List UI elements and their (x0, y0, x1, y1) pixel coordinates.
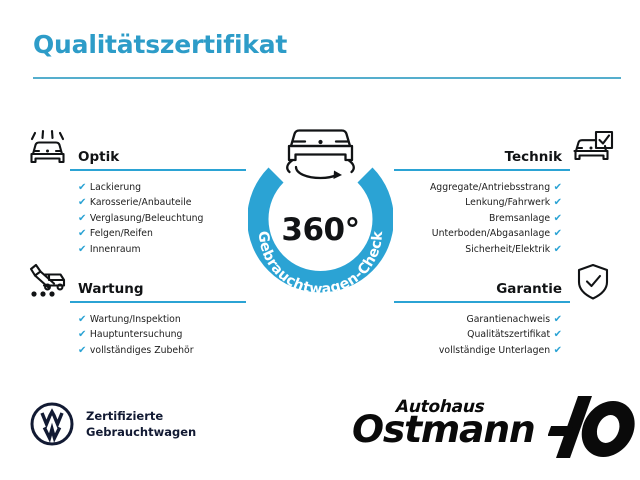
list-item-label: Felgen/Reifen (90, 228, 153, 239)
list-item-label: Sicherheit/Elektrik (465, 244, 550, 255)
list-item: Sicherheit/Elektrik✔ (394, 242, 562, 257)
list-item: ✔vollständiges Zubehör (78, 343, 246, 358)
check-icon: ✔ (554, 312, 562, 327)
list-item-label: Verglasung/Beleuchtung (90, 213, 204, 224)
badge-value: 360° (248, 212, 393, 248)
list-item-label: vollständige Unterlagen (439, 345, 550, 356)
vw-certified-lockup: Zertifizierte Gebrauchtwagen (30, 402, 196, 446)
check-icon: ✔ (554, 195, 562, 210)
list-item: Qualitätszertifikat✔ (394, 327, 562, 342)
list-item: ✔Wartung/Inspektion (78, 312, 246, 327)
car-rotate-icon (287, 131, 354, 180)
list-item-label: Lackierung (90, 182, 141, 193)
list-item-label: Unterboden/Abgasanlage (432, 228, 550, 239)
section-optik-title-wrap: Optik (70, 149, 246, 172)
section-technik: Technik Aggregate/Antriebsstrang✔ Lenkun… (394, 126, 616, 273)
page-title: Qualitätszertifikat (33, 30, 621, 60)
list-item-label: Garantienachweis (467, 314, 551, 325)
list-item-label: Innenraum (90, 244, 141, 255)
shield-check-icon (570, 260, 616, 304)
section-title: Technik (394, 149, 570, 165)
ao-monogram-icon (548, 396, 640, 458)
section-divider (394, 169, 570, 171)
section-title: Optik (70, 149, 246, 165)
section-divider (70, 301, 246, 303)
vw-logo-icon (30, 402, 74, 446)
section-garantie: Garantie Garantienachweis✔ Qualitätszert… (394, 258, 616, 374)
list-item: Garantienachweis✔ (394, 312, 562, 327)
vw-certified-line1: Zertifizierte (86, 408, 196, 424)
section-wartung-title-wrap: Wartung (70, 281, 246, 304)
badge-360-gebrauchtwagen-check: Gebrauchtwagen-Check 360° (248, 112, 393, 312)
check-icon: ✔ (78, 180, 86, 195)
list-item: ✔Innenraum (78, 242, 246, 257)
vw-certified-line2: Gebrauchtwagen (86, 424, 196, 440)
list-item-label: Lenkung/Fahrwerk (465, 197, 550, 208)
check-icon: ✔ (554, 343, 562, 358)
dealer-name: Ostmann (352, 408, 535, 451)
list-item-label: vollständiges Zubehör (90, 345, 194, 356)
check-icon: ✔ (78, 226, 86, 241)
section-title: Wartung (70, 281, 246, 297)
check-icon: ✔ (78, 195, 86, 210)
section-divider (394, 301, 570, 303)
section-optik-header: Optik (24, 126, 246, 172)
car-lift-icon (24, 260, 70, 304)
check-icon: ✔ (78, 211, 86, 226)
list-item-label: Karosserie/Anbauteile (90, 197, 192, 208)
section-technik-title-wrap: Technik (394, 149, 570, 172)
section-title: Garantie (394, 281, 570, 297)
check-icon: ✔ (554, 327, 562, 342)
list-item: ✔Karosserie/Anbauteile (78, 195, 246, 210)
section-garantie-title-wrap: Garantie (394, 281, 570, 304)
certificate-page: Qualitätszertifikat (0, 0, 640, 480)
list-item-label: Aggregate/Antriebsstrang (430, 182, 550, 193)
dealer-logo-lockup: Autohaus Ostmann (352, 392, 640, 464)
section-divider (70, 169, 246, 171)
section-wartung-header: Wartung (24, 258, 246, 304)
check-icon: ✔ (554, 211, 562, 226)
list-item-label: Hauptuntersuchung (90, 329, 183, 340)
check-icon: ✔ (554, 242, 562, 257)
check-icon: ✔ (78, 242, 86, 257)
list-item-label: Bremsanlage (489, 213, 550, 224)
check-icon: ✔ (78, 327, 86, 342)
section-garantie-list: Garantienachweis✔ Qualitätszertifikat✔ v… (394, 312, 616, 358)
section-optik: Optik ✔Lackierung ✔Karosserie/Anbauteile… (24, 126, 246, 273)
list-item-label: Qualitätszertifikat (467, 329, 550, 340)
vw-certified-text: Zertifizierte Gebrauchtwagen (86, 408, 196, 440)
list-item: ✔Felgen/Reifen (78, 226, 246, 241)
section-wartung: Wartung ✔Wartung/Inspektion ✔Hauptunters… (24, 258, 246, 374)
section-optik-list: ✔Lackierung ✔Karosserie/Anbauteile ✔Verg… (24, 180, 246, 257)
list-item: Aggregate/Antriebsstrang✔ (394, 180, 562, 195)
car-checkbox-icon (570, 128, 616, 172)
section-wartung-list: ✔Wartung/Inspektion ✔Hauptuntersuchung ✔… (24, 312, 246, 358)
car-shine-icon (24, 128, 70, 172)
list-item: ✔Lackierung (78, 180, 246, 195)
list-item-label: Wartung/Inspektion (90, 314, 181, 325)
check-icon: ✔ (554, 180, 562, 195)
list-item: ✔Hauptuntersuchung (78, 327, 246, 342)
section-technik-list: Aggregate/Antriebsstrang✔ Lenkung/Fahrwe… (394, 180, 616, 257)
section-garantie-header: Garantie (394, 258, 616, 304)
check-icon: ✔ (78, 343, 86, 358)
list-item: Unterboden/Abgasanlage✔ (394, 226, 562, 241)
list-item: Bremsanlage✔ (394, 211, 562, 226)
list-item: vollständige Unterlagen✔ (394, 343, 562, 358)
page-header: Qualitätszertifikat (33, 30, 621, 79)
check-icon: ✔ (78, 312, 86, 327)
list-item: ✔Verglasung/Beleuchtung (78, 211, 246, 226)
section-technik-header: Technik (394, 126, 616, 172)
check-icon: ✔ (554, 226, 562, 241)
list-item: Lenkung/Fahrwerk✔ (394, 195, 562, 210)
header-divider (33, 77, 621, 79)
